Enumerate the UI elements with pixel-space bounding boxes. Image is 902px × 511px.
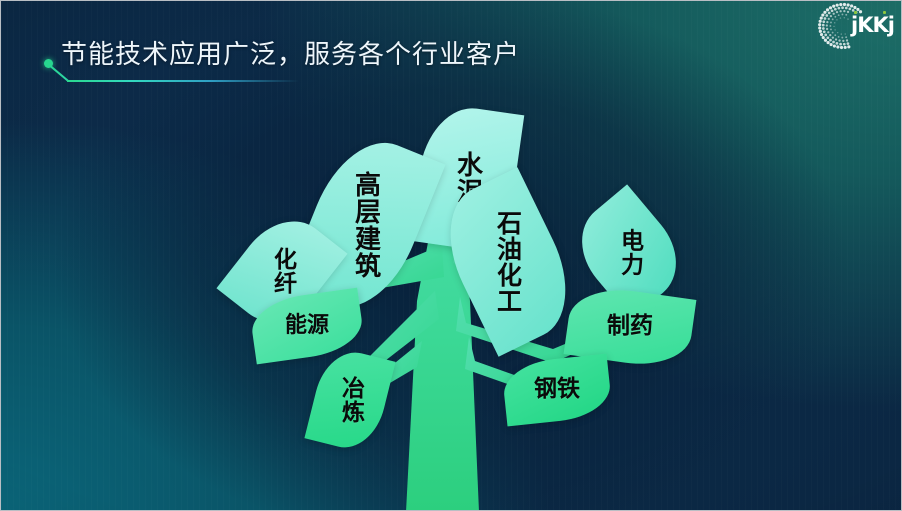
leaf-energy-label: 能源 [285,315,329,337]
logo-dot-left [854,11,857,14]
leaf-power-label: 电力 [617,228,640,276]
logo-dot-right [883,11,886,14]
logo-wordmark: jKKj [851,13,894,37]
slide-canvas: 水泥高层建筑石油化工化纤电力能源制药冶炼钢铁 节能技术应用广泛，服务各个行业客户… [0,0,902,511]
leaf-highrise-label: 高层建筑 [352,171,379,279]
leaf-smelting-label: 冶炼 [338,376,361,424]
leaf-petrochem-label: 石油化工 [495,210,521,314]
leaf-pharma-label: 制药 [607,315,653,338]
brand-logo[interactable]: jKKj [809,1,901,53]
slide-header: 节能技术应用广泛，服务各个行业客户 [1,1,902,111]
title-underline-rule [67,80,299,82]
leaf-chemfiber-label: 化纤 [270,247,293,295]
leaf-steel-label: 钢铁 [534,378,580,401]
page-title: 节能技术应用广泛，服务各个行业客户 [61,42,520,68]
